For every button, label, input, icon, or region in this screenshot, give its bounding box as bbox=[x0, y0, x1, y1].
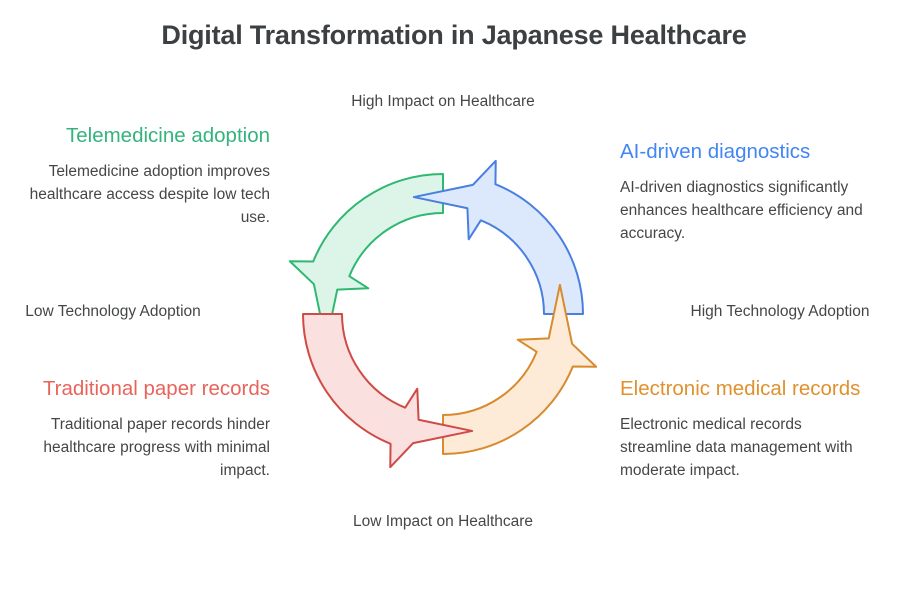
page-title: Digital Transformation in Japanese Healt… bbox=[0, 20, 908, 51]
quadrant-emr-heading: Electronic medical records bbox=[620, 375, 870, 402]
cycle-diagram-svg bbox=[288, 159, 598, 469]
quadrant-emr: Electronic medical records Electronic me… bbox=[620, 375, 870, 482]
quadrant-telemedicine-heading: Telemedicine adoption bbox=[20, 122, 270, 149]
quadrant-telemedicine-body: Telemedicine adoption improves healthcar… bbox=[20, 161, 270, 229]
axis-label-high-impact: High Impact on Healthcare bbox=[343, 90, 543, 113]
quadrant-paper-records-body: Traditional paper records hinder healthc… bbox=[20, 414, 270, 482]
axis-label-high-technology-adoption: High Technology Adoption bbox=[680, 300, 880, 323]
quadrant-ai-diagnostics: AI-driven diagnostics AI-driven diagnost… bbox=[620, 138, 870, 245]
infographic-root: Digital Transformation in Japanese Healt… bbox=[0, 0, 908, 592]
quadrant-ai-diagnostics-body: AI-driven diagnostics significantly enha… bbox=[620, 177, 870, 245]
axis-label-low-impact: Low Impact on Healthcare bbox=[343, 510, 543, 533]
quadrant-emr-body: Electronic medical records streamline da… bbox=[620, 414, 870, 482]
cycle-diagram bbox=[288, 159, 598, 469]
axis-label-low-technology-adoption: Low Technology Adoption bbox=[13, 300, 213, 323]
quadrant-paper-records: Traditional paper records Traditional pa… bbox=[20, 375, 270, 482]
quadrant-telemedicine: Telemedicine adoption Telemedicine adopt… bbox=[20, 122, 270, 229]
quadrant-ai-diagnostics-heading: AI-driven diagnostics bbox=[620, 138, 870, 165]
quadrant-paper-records-heading: Traditional paper records bbox=[20, 375, 270, 402]
